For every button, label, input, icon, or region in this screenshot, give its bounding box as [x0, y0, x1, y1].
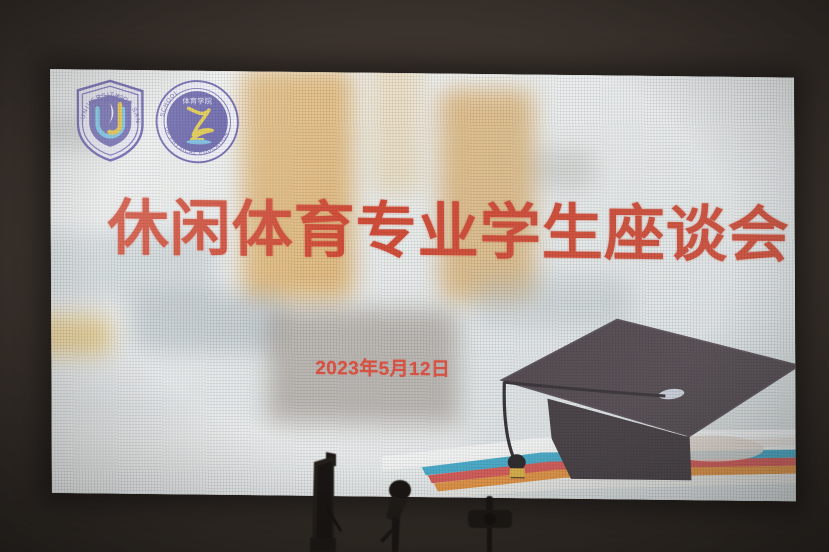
presentation-slide: 三亚学院 UNIVERSITY OF SANYA 体育学院: [50, 69, 796, 501]
microphone-silhouette: [372, 478, 418, 552]
svg-text:体育学院: 体育学院: [182, 96, 212, 106]
graduation-imagery: [381, 247, 796, 502]
school-of-physical-education-emblem-icon: 体育学院 SCHOOL OF PHYSICAL EDUCATION: [154, 78, 240, 165]
webcam-silhouette: [458, 496, 522, 552]
projection-screen: 三亚学院 UNIVERSITY OF SANYA 体育学院: [50, 69, 796, 501]
graduation-cap-graphic: [439, 257, 796, 481]
logo-row: 三亚学院 UNIVERSITY OF SANYA 体育学院: [72, 77, 240, 165]
university-of-sanya-emblem-icon: 三亚学院 UNIVERSITY OF SANYA: [72, 78, 148, 163]
screenshot-root: 三亚学院 UNIVERSITY OF SANYA 体育学院: [0, 0, 829, 552]
monitor-silhouette: [296, 452, 352, 552]
